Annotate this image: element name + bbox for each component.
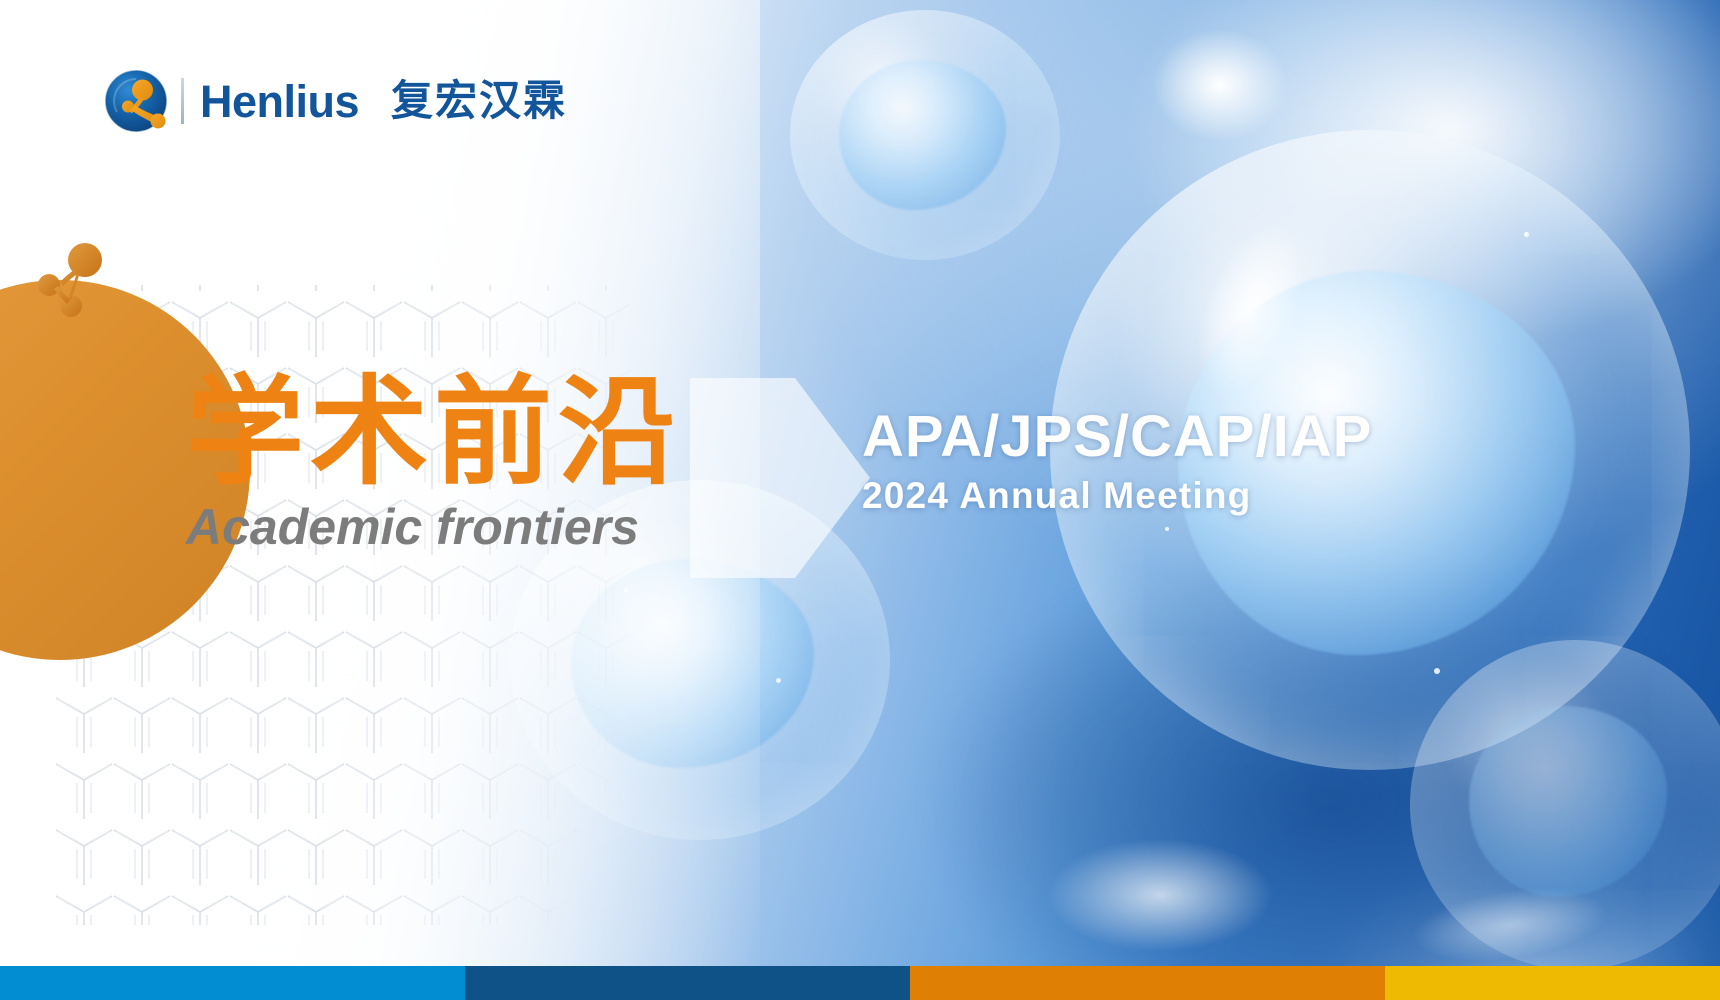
speck-icon <box>1434 668 1440 674</box>
promo-banner: Henlius 复宏汉霖 学术前沿 Academic frontiers APA… <box>0 0 1720 1000</box>
cell-nucleus-icon <box>839 60 1006 210</box>
speck-icon <box>1524 232 1529 237</box>
brand-logo[interactable]: Henlius 复宏汉霖 <box>103 68 567 134</box>
headline-title-cn: 学术前沿 <box>186 372 682 496</box>
cell-nucleus-icon <box>1469 706 1667 897</box>
bottom-bar-segment-gold <box>1385 966 1720 1000</box>
meeting-title: APA/JPS/CAP/IAP <box>862 406 1372 469</box>
meeting-subtitle: 2024 Annual Meeting <box>862 475 1372 517</box>
right-chevron-arrow-icon <box>690 378 870 578</box>
bottom-bar-segment-light-blue <box>0 966 465 1000</box>
logo-wordmark: Henlius <box>200 79 359 124</box>
light-flare-icon <box>1130 10 1310 160</box>
bottom-bar-segment-dark-blue <box>465 966 910 1000</box>
headline-block: 学术前沿 Academic frontiers <box>186 372 682 556</box>
logo-wordmark-cn: 复宏汉霖 <box>391 80 567 122</box>
logo-divider <box>181 78 184 124</box>
light-flare-icon <box>1010 820 1310 970</box>
headline-title-en: Academic frontiers <box>186 498 682 556</box>
cell-bubble-icon <box>790 10 1060 260</box>
henlius-molecule-logo-icon <box>103 68 169 134</box>
speck-icon <box>1165 527 1169 531</box>
speck-icon <box>776 678 781 683</box>
meeting-block: APA/JPS/CAP/IAP 2024 Annual Meeting <box>862 406 1372 517</box>
bottom-color-bar <box>0 966 1720 1000</box>
molecule-dots-icon <box>30 238 140 318</box>
bottom-bar-segment-orange <box>910 966 1385 1000</box>
